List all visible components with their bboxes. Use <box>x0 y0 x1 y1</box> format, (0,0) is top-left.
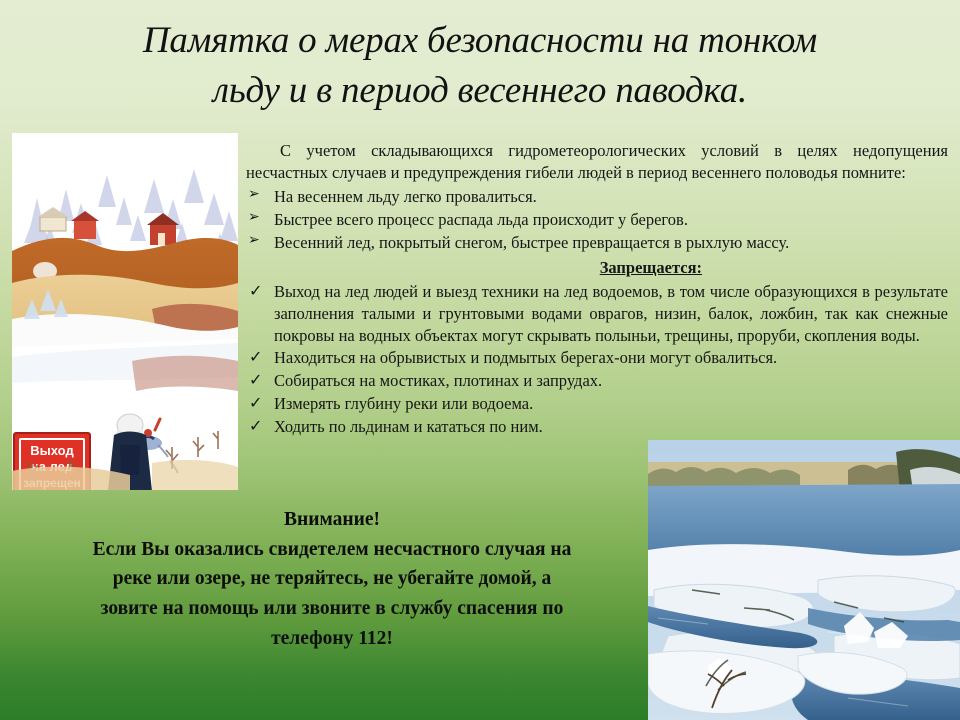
list-item: ✓ Собираться на мостиках, плотинах и зап… <box>246 370 948 392</box>
attention-heading: Внимание! <box>24 505 640 535</box>
body-content: С учетом складывающихся гидрометеорологи… <box>246 140 948 439</box>
check-bullet-icon: ✓ <box>249 416 262 437</box>
check-bullet-icon: ✓ <box>249 370 262 391</box>
list-item-label: Ходить по льдинам и кататься по ним. <box>274 416 948 438</box>
list-item-label: Собираться на мостиках, плотинах и запру… <box>274 370 948 392</box>
list-item-label: На весеннем льду легко провалиться. <box>274 186 948 208</box>
page-title-line-2: льду и в период весеннего паводка. <box>40 66 920 116</box>
list-item: ➢ Весенний лед, покрытый снегом, быстрее… <box>246 232 948 254</box>
attention-line-3: реке или озере, не теряйтесь, не убегайт… <box>24 564 640 594</box>
svg-text:Выход: Выход <box>30 443 74 458</box>
list-item: ✓ Ходить по льдинам и кататься по ним. <box>246 416 948 438</box>
forbidden-heading-label: Запрещается: <box>600 258 702 277</box>
ice-drift-photo <box>648 440 960 720</box>
list-item-label: Весенний лед, покрытый снегом, быстрее п… <box>274 232 948 254</box>
arrow-bullet-icon: ➢ <box>248 186 260 205</box>
list-item-label: Находиться на обрывистых и подмытых бере… <box>274 347 948 369</box>
page-title-line-1: Памятка о мерах безопасности на тонком <box>40 16 920 66</box>
list-item: ➢ На весеннем льду легко провалиться. <box>246 186 948 208</box>
attention-block: Внимание! Если Вы оказались свидетелем н… <box>24 505 640 653</box>
list-item-label: Быстрее всего процесс распада льда проис… <box>274 209 948 231</box>
forbidden-heading: Запрещается: <box>246 257 948 279</box>
intro-paragraph: С учетом складывающихся гидрометеорологи… <box>246 140 948 184</box>
list-item-label: Измерять глубину реки или водоема. <box>274 393 948 415</box>
check-bullet-icon: ✓ <box>249 393 262 414</box>
list-item: ➢ Быстрее всего процесс распада льда про… <box>246 209 948 231</box>
check-bullet-icon: ✓ <box>249 281 262 302</box>
page-title: Памятка о мерах безопасности на тонком л… <box>40 16 920 117</box>
attention-line-4: зовите на помощь или звоните в службу сп… <box>24 594 640 624</box>
attention-line-2: Если Вы оказались свидетелем несчастного… <box>24 535 640 565</box>
remember-list: ➢ На весеннем льду легко провалиться. ➢ … <box>246 186 948 254</box>
list-item-label: Выход на лед людей и выезд техники на ле… <box>274 281 948 347</box>
list-item: ✓ Находиться на обрывистых и подмытых бе… <box>246 347 948 369</box>
arrow-bullet-icon: ➢ <box>248 209 260 228</box>
poster-slide: Памятка о мерах безопасности на тонком л… <box>0 0 960 720</box>
forbidden-list: ✓ Выход на лед людей и выезд техники на … <box>246 281 948 439</box>
list-item: ✓ Выход на лед людей и выезд техники на … <box>246 281 948 347</box>
arrow-bullet-icon: ➢ <box>248 232 260 251</box>
list-item: ✓ Измерять глубину реки или водоема. <box>246 393 948 415</box>
winter-riverbank-illustration: Выход на лед запрещен <box>12 133 238 490</box>
check-bullet-icon: ✓ <box>249 347 262 368</box>
attention-emergency-number: телефону 112! <box>24 624 640 654</box>
